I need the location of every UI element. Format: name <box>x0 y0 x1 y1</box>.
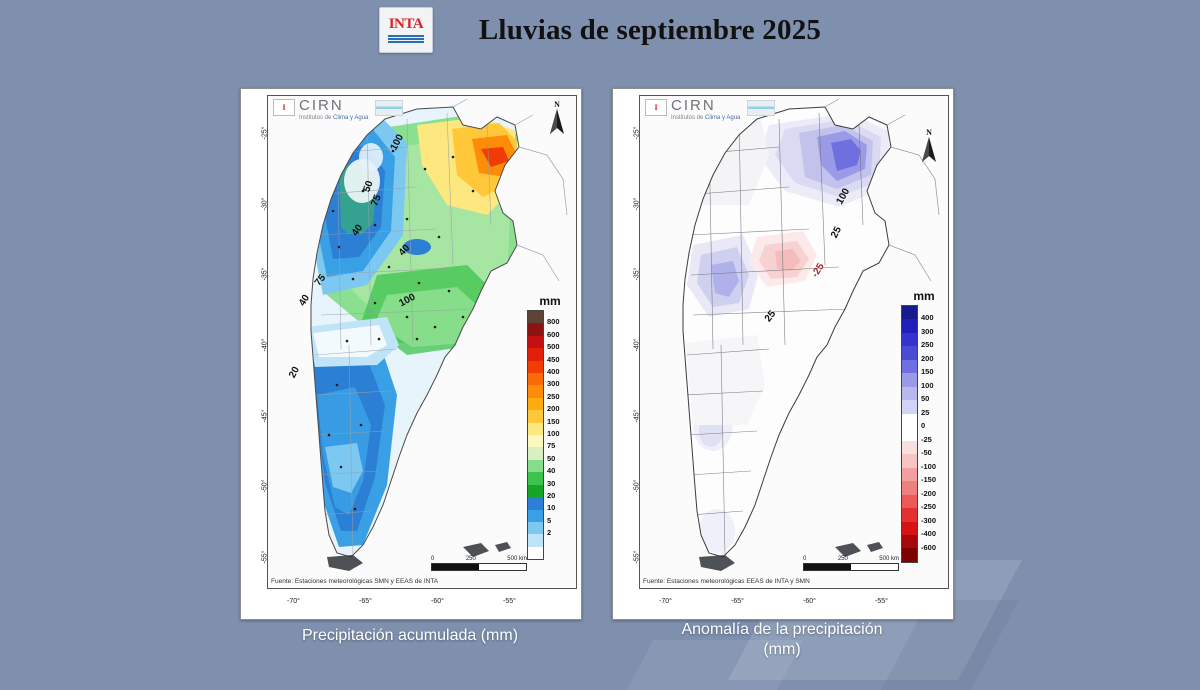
colorbar-tick-label: 5 <box>547 517 551 525</box>
contour-label: 100 <box>834 187 852 207</box>
longitude-tick-label: -60° <box>803 598 816 605</box>
source-note-right: Fuente: Estaciones meteorológicas EEAS d… <box>643 578 810 585</box>
longitude-tick-label: -65° <box>359 598 372 605</box>
contour-label: 40 <box>350 223 365 238</box>
colorbar-tick-label: -25 <box>921 436 932 444</box>
caption-anomaly-line1: Anomalía de la precipitación <box>612 620 952 640</box>
colorbar-gradient <box>527 310 544 560</box>
contour-label: 25 <box>763 309 779 325</box>
colorbar-swatch <box>902 306 917 319</box>
colorbar-tick-label: -100 <box>921 463 936 471</box>
contour-label: 75 <box>369 193 383 207</box>
colorbar-tick-label: 600 <box>547 331 560 339</box>
water-wave-icon <box>375 100 403 116</box>
scale-bar-tick: 0 <box>431 556 434 562</box>
colorbar-swatch <box>902 360 917 373</box>
colorbar-swatch <box>528 410 543 422</box>
colorbar-ticks: 8006005004504003002502001501007550403020… <box>547 310 573 558</box>
colorbar-tick-label: 25 <box>921 409 929 417</box>
latitude-tick-label: -50° <box>634 480 641 502</box>
colorbar-tick-label: 2 <box>547 529 551 537</box>
latitude-tick-label: -30° <box>262 197 269 219</box>
cirn-logo-subtitle: Institutos de Clima y Agua <box>671 114 740 122</box>
latitude-tick-label: -30° <box>634 197 641 219</box>
colorbar-precipitation: mm 8006005004504003002502001501007550403… <box>527 294 573 560</box>
source-note-left: Fuente: Estaciones meteorológicas SMN y … <box>271 578 438 585</box>
colorbar-swatch <box>528 435 543 447</box>
cirn-logo-right: I CIRN Institutos de Clima y Agua <box>645 99 775 122</box>
colorbar-tick-label: 500 <box>547 343 560 351</box>
latitude-tick-label: -50° <box>262 480 269 502</box>
colorbar-tick-label: -200 <box>921 490 936 498</box>
contour-label: 75 <box>313 273 329 289</box>
colorbar-swatch <box>902 508 917 521</box>
colorbar-tick-label: -400 <box>921 530 936 538</box>
colorbar-swatch <box>902 319 917 332</box>
colorbar-unit-label: mm <box>913 289 934 303</box>
colorbar-tick-label: 50 <box>547 455 555 463</box>
colorbar-swatch <box>902 333 917 346</box>
page-title: Lluvias de septiembre 2025 <box>479 14 821 47</box>
north-arrow-left: N <box>549 101 565 135</box>
cirn-logo-name: CIRN <box>299 99 368 113</box>
compass-needle-icon <box>921 137 937 163</box>
cirn-logo-name: CIRN <box>671 99 740 113</box>
colorbar-swatch <box>902 427 917 440</box>
cirn-inta-mark: I <box>645 99 667 116</box>
colorbar-swatch <box>528 485 543 497</box>
colorbar-swatch <box>528 361 543 373</box>
longitude-tick-label: -70° <box>659 598 672 605</box>
colorbar-tick-label: -150 <box>921 476 936 484</box>
colorbar-tick-label: 100 <box>921 382 934 390</box>
latitude-tick-label: -45° <box>262 409 269 431</box>
colorbar-swatch <box>902 454 917 467</box>
longitude-tick-label: -60° <box>431 598 444 605</box>
scale-bar-tick: 500 km <box>879 556 899 562</box>
scale-bar-graphic <box>803 563 899 571</box>
colorbar-swatch <box>902 387 917 400</box>
colorbar-swatch <box>528 447 543 459</box>
contour-label: 25 <box>829 225 844 240</box>
contour-label: 40 <box>397 243 413 259</box>
colorbar-tick-label: 40 <box>547 467 555 475</box>
colorbar-swatch <box>902 468 917 481</box>
contour-label: 40 <box>297 293 312 308</box>
colorbar-swatch <box>902 373 917 386</box>
colorbar-tick-label: 20 <box>547 492 555 500</box>
colorbar-tick-label: 200 <box>921 355 934 363</box>
scale-bar-ticks: 0250500 km <box>803 556 899 562</box>
colorbar-tick-label: -600 <box>921 544 936 552</box>
latitude-tick-label: -55° <box>634 551 641 573</box>
colorbar-tick-label: 150 <box>547 418 560 426</box>
colorbar-swatch <box>528 423 543 435</box>
cirn-logo-subtitle: Institutos de Clima y Agua <box>299 114 368 122</box>
scale-bar-tick: 0 <box>803 556 806 562</box>
colorbar-tick-label: -250 <box>921 503 936 511</box>
contour-label: 50 <box>361 179 375 193</box>
colorbar-swatch <box>528 311 543 323</box>
colorbar-swatch <box>902 522 917 535</box>
colorbar-tick-label: 10 <box>547 504 555 512</box>
latitude-tick-label: -25° <box>634 127 641 149</box>
scale-bar-left: 0250500 km <box>431 556 527 571</box>
cirn-logo-left: I CIRN Institutos de Clima y Agua <box>273 99 403 122</box>
contour-label: 20 <box>287 365 302 380</box>
colorbar-swatch <box>902 535 917 548</box>
contour-label: -25 <box>810 261 827 279</box>
colorbar-tick-label: 75 <box>547 442 555 450</box>
latitude-tick-label: -35° <box>262 268 269 290</box>
colorbar-swatch <box>902 400 917 413</box>
colorbar-swatch <box>528 336 543 348</box>
colorbar-swatch <box>902 346 917 359</box>
colorbar-tick-label: 400 <box>921 314 934 322</box>
colorbar-tick-label: 300 <box>547 380 560 388</box>
latitude-tick-label: -40° <box>262 339 269 361</box>
colorbar-gradient <box>901 305 918 563</box>
inta-logo-text: INTA <box>389 17 423 32</box>
colorbar-swatch <box>528 547 543 559</box>
colorbar-tick-label: 200 <box>547 405 560 413</box>
colorbar-swatch <box>902 548 917 561</box>
scale-bar-tick: 250 <box>838 556 848 562</box>
colorbar-tick-label: 0 <box>921 422 925 430</box>
cirn-inta-mark: I <box>273 99 295 116</box>
colorbar-tick-label: 400 <box>547 368 560 376</box>
page-header: INTA Lluvias de septiembre 2025 <box>0 0 1200 60</box>
colorbar-tick-label: 30 <box>547 480 555 488</box>
colorbar-tick-label: 250 <box>547 393 560 401</box>
colorbar-tick-label: -50 <box>921 449 932 457</box>
caption-anomaly: Anomalía de la precipitación (mm) <box>612 620 952 660</box>
contour-label: 100 <box>397 292 417 310</box>
colorbar-unit-label: mm <box>539 294 560 308</box>
scale-bar-tick: 250 <box>466 556 476 562</box>
map-panel-precipitation[interactable]: I CIRN Institutos de Clima y Agua N mm 8… <box>240 88 582 620</box>
colorbar-swatch <box>528 460 543 472</box>
colorbar-swatch <box>528 534 543 546</box>
water-wave-icon <box>747 100 775 116</box>
latitude-tick-label: -35° <box>634 268 641 290</box>
inta-logo-bars <box>388 35 424 43</box>
colorbar-tick-label: 100 <box>547 430 560 438</box>
caption-anomaly-line2: (mm) <box>612 640 952 660</box>
scale-bar-ticks: 0250500 km <box>431 556 527 562</box>
scale-bar-tick: 500 km <box>507 556 527 562</box>
longitude-tick-label: -55° <box>875 598 888 605</box>
colorbar-swatch <box>528 348 543 360</box>
map-panel-anomaly[interactable]: I CIRN Institutos de Clima y Agua N mm 4… <box>612 88 954 620</box>
scale-bar-right: 0250500 km <box>803 556 899 571</box>
inta-logo: INTA <box>379 7 433 53</box>
colorbar-swatch <box>528 497 543 509</box>
latitude-tick-label: -25° <box>262 127 269 149</box>
colorbar-tick-label: 150 <box>921 368 934 376</box>
north-arrow-right: N <box>921 129 937 163</box>
colorbar-tick-label: 300 <box>921 328 934 336</box>
longitude-tick-label: -70° <box>287 598 300 605</box>
colorbar-swatch <box>528 373 543 385</box>
colorbar-tick-label: 800 <box>547 318 560 326</box>
colorbar-swatch <box>528 472 543 484</box>
colorbar-swatch <box>902 481 917 494</box>
longitude-tick-label: -65° <box>731 598 744 605</box>
colorbar-tick-label: -300 <box>921 517 936 525</box>
colorbar-swatch <box>528 522 543 534</box>
colorbar-tick-label: 250 <box>921 341 934 349</box>
contour-label: 100 <box>389 133 407 153</box>
latitude-tick-label: -55° <box>262 551 269 573</box>
colorbar-swatch <box>528 398 543 410</box>
compass-needle-icon <box>549 109 565 135</box>
colorbar-swatch <box>902 495 917 508</box>
colorbar-swatch <box>902 414 917 427</box>
caption-precipitation: Precipitación acumulada (mm) <box>240 626 580 646</box>
scale-bar-graphic <box>431 563 527 571</box>
colorbar-tick-label: 450 <box>547 356 560 364</box>
colorbar-swatch <box>528 510 543 522</box>
longitude-tick-label: -55° <box>503 598 516 605</box>
colorbar-anomaly: mm 40030025020015010050250-25-50-100-150… <box>901 289 947 563</box>
colorbar-swatch <box>528 323 543 335</box>
colorbar-swatch <box>528 385 543 397</box>
latitude-tick-label: -45° <box>634 409 641 431</box>
colorbar-ticks: 40030025020015010050250-25-50-100-150-20… <box>921 305 947 561</box>
colorbar-tick-label: 50 <box>921 395 929 403</box>
colorbar-swatch <box>902 441 917 454</box>
latitude-tick-label: -40° <box>634 339 641 361</box>
